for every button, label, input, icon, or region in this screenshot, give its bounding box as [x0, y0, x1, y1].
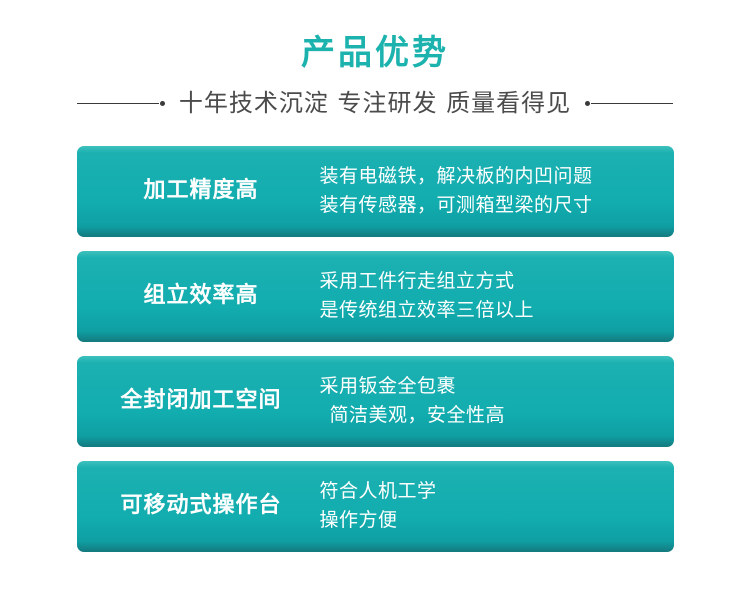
advantage-card-description-line: 采用钣金全包裹: [320, 372, 662, 401]
advantage-card-description: 装有电磁铁，解决板的内凹问题 装有传感器，可测箱型梁的尺寸: [320, 162, 674, 221]
advantage-card-description-line: 采用工件行走组立方式: [320, 267, 662, 296]
product-advantages-page: 产品优势 十年技术沉淀 专注研发 质量看得见 加工精度高 装有电磁铁，解决板的内…: [0, 0, 750, 595]
page-subtitle: 十年技术沉淀 专注研发 质量看得见: [165, 89, 585, 118]
advantage-card-description: 采用钣金全包裹 简洁美观，安全性高: [320, 372, 674, 431]
advantage-card: 全封闭加工空间 采用钣金全包裹 简洁美观，安全性高: [77, 356, 674, 447]
advantage-card-list: 加工精度高 装有电磁铁，解决板的内凹问题 装有传感器，可测箱型梁的尺寸 组立效率…: [77, 118, 674, 552]
advantage-card: 加工精度高 装有电磁铁，解决板的内凹问题 装有传感器，可测箱型梁的尺寸: [77, 146, 674, 237]
advantage-card-label: 组立效率高: [77, 283, 320, 309]
advantage-card-label: 可移动式操作台: [77, 493, 320, 519]
advantage-card: 可移动式操作台 符合人机工学 操作方便: [77, 461, 674, 552]
advantage-card-description-line: 操作方便: [320, 506, 662, 535]
decorative-line-left-icon: [77, 103, 159, 104]
advantage-card: 组立效率高 采用工件行走组立方式 是传统组立效率三倍以上: [77, 251, 674, 342]
page-title: 产品优势: [0, 34, 750, 73]
decorative-line-right-icon: [591, 103, 673, 104]
advantage-card-description: 采用工件行走组立方式 是传统组立效率三倍以上: [320, 267, 674, 326]
subtitle-row: 十年技术沉淀 专注研发 质量看得见: [0, 89, 750, 118]
advantage-card-label: 加工精度高: [77, 178, 320, 204]
advantage-card-label: 全封闭加工空间: [77, 388, 320, 414]
advantage-card-description-line: 简洁美观，安全性高: [320, 401, 662, 430]
advantage-card-description: 符合人机工学 操作方便: [320, 477, 674, 536]
advantage-card-description-line: 符合人机工学: [320, 477, 662, 506]
decorative-rule-right: [585, 101, 673, 106]
advantage-card-description-line: 装有传感器，可测箱型梁的尺寸: [320, 191, 662, 220]
page-header: 产品优势 十年技术沉淀 专注研发 质量看得见: [0, 0, 750, 118]
advantage-card-description-line: 装有电磁铁，解决板的内凹问题: [320, 162, 662, 191]
decorative-dot-right-icon: [585, 101, 590, 106]
decorative-rule-left: [77, 101, 165, 106]
advantage-card-description-line: 是传统组立效率三倍以上: [320, 296, 662, 325]
